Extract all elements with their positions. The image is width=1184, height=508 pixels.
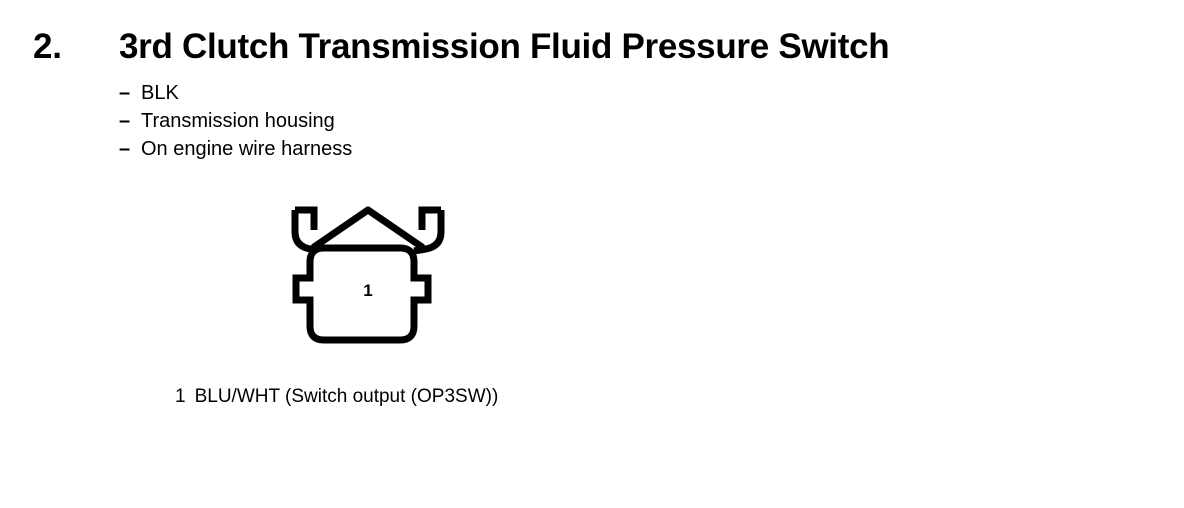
connector-outline-icon: 1 <box>288 200 448 352</box>
legend-pin-description: BLU/WHT (Switch output (OP3SW)) <box>195 386 499 407</box>
legend-pin-number: 1 <box>175 386 186 407</box>
connector-body-icon <box>296 248 428 340</box>
dash-bullet-icon: – <box>119 135 130 163</box>
list-item: – On engine wire harness <box>119 135 539 163</box>
page-title: 3rd Clutch Transmission Fluid Pressure S… <box>119 24 889 70</box>
spec-label: BLK <box>141 82 179 104</box>
dash-bullet-icon: – <box>119 107 130 135</box>
latch-ridge-icon <box>314 210 422 247</box>
spec-label: Transmission housing <box>141 110 335 132</box>
list-item: – BLK <box>119 79 539 107</box>
section-heading: 2. 3rd Clutch Transmission Fluid Pressur… <box>0 24 1184 70</box>
list-item: – Transmission housing <box>119 107 539 135</box>
step-number: 2. <box>33 24 62 70</box>
dash-bullet-icon: – <box>119 79 130 107</box>
pin-number-label: 1 <box>363 281 372 300</box>
spec-list: – BLK – Transmission housing – On engine… <box>119 79 539 163</box>
spec-label: On engine wire harness <box>141 138 352 160</box>
connector-diagram: 1 <box>288 200 448 352</box>
document-page: 2. 3rd Clutch Transmission Fluid Pressur… <box>0 0 1184 508</box>
pin-legend: 1BLU/WHT (Switch output (OP3SW)) <box>175 384 498 410</box>
